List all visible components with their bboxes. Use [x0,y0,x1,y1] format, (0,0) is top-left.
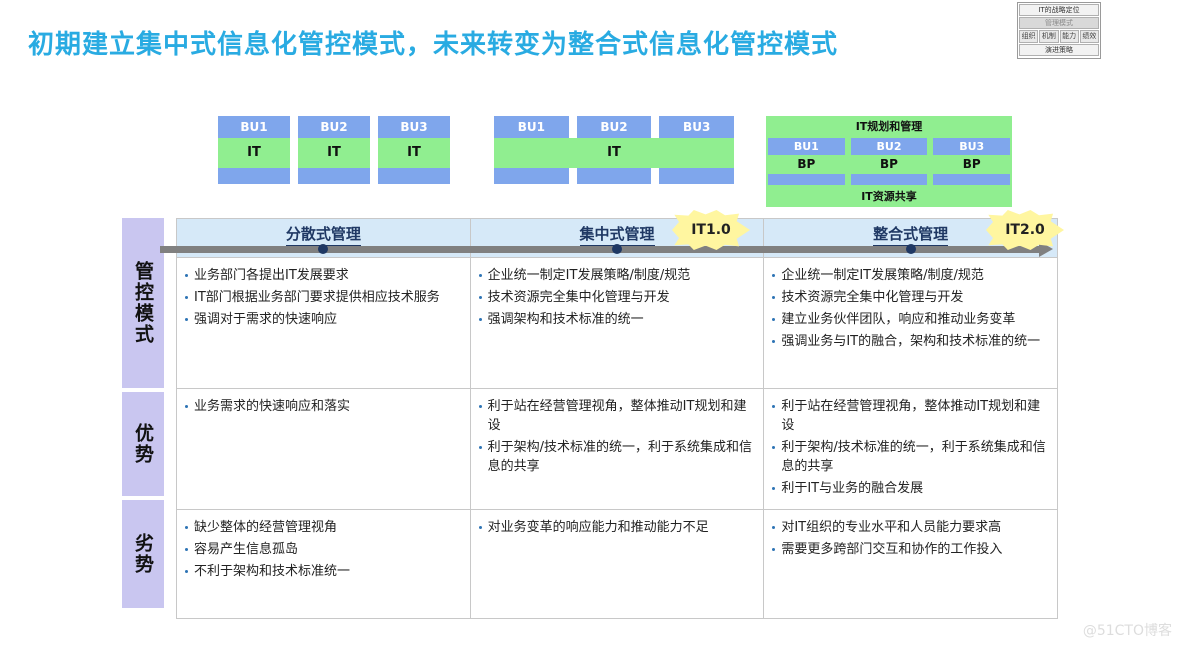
bullet-item: IT部门根据业务部门要求提供相应技术服务 [183,288,462,307]
diagram-integrated: IT规划和管理 BU1 BP BU2 BP BU3 BP IT资源共享 [766,116,1012,207]
comparison-table: 分散式管理 集中式管理 整合式管理 业务部门各提出IT发展要求IT部门根据业务部… [176,218,1058,619]
bullet-item: 利于架构/技术标准的统一，利于系统集成和信息的共享 [477,438,756,476]
bu-footer [218,168,290,184]
bullet-list: 企业统一制定IT发展策略/制度/规范技术资源完全集中化管理与开发强调架构和技术标… [477,266,756,329]
bullet-item: 利于架构/技术标准的统一，利于系统集成和信息的共享 [770,438,1049,476]
bullet-item: 需要更多跨部门交互和协作的工作投入 [770,540,1049,559]
bu-it-band: IT [298,138,370,168]
logo-cell-capability: 能力 [1060,30,1079,43]
column-header-label: 分散式管理 [286,223,361,246]
bullet-list: 业务需求的快速响应和落实 [183,397,462,416]
slide-canvas: 初期建立集中式信息化管控模式，未来转变为整合式信息化管控模式 IT的战略定位 管… [0,0,1184,656]
logo-top-row: IT的战略定位 [1019,4,1099,16]
bu-column: BU3 BP [933,138,1010,185]
it-resource-sharing-bar: IT资源共享 [768,188,1010,205]
bullet-item: 技术资源完全集中化管理与开发 [477,288,756,307]
cell-disadvantages-centralized: 对业务变革的响应能力和推动能力不足 [471,510,765,618]
table-row-advantages: 业务需求的快速响应和落实 利于站在经营管理视角，整体推动IT规划和建设利于架构/… [177,388,1057,509]
cell-disadvantages-integrated: 对IT组织的专业水平和人员能力要求高需要更多跨部门交互和协作的工作投入 [764,510,1057,618]
bullet-item: 对业务变革的响应能力和推动能力不足 [477,518,756,537]
diagram-decentralized: BU1 IT BU2 IT BU3 IT [218,116,450,184]
logo-cell-label: 绩效 [1081,32,1098,41]
logo-cell-organization: 组织 [1019,30,1038,43]
bu-header: BU3 [659,116,734,138]
column-header-label: 集中式管理 [580,223,655,246]
logo-cell-label: 机制 [1040,32,1057,41]
cell-advantages-decentralized: 业务需求的快速响应和落实 [177,389,471,509]
logo-middle-row: 管理模式 [1019,17,1099,29]
bullet-item: 对IT组织的专业水平和人员能力要求高 [770,518,1049,537]
logo-cell-label: 组织 [1020,32,1037,41]
bu-footer [933,174,1010,185]
milestone-badge-it1: IT1.0 [672,210,750,250]
row-label-disadvantages: 劣势 [122,500,164,608]
bullet-item: 建立业务伙伴团队，响应和推动业务变革 [770,310,1049,329]
bullet-list: 企业统一制定IT发展策略/制度/规范技术资源完全集中化管理与开发建立业务伙伴团队… [770,266,1049,351]
cell-disadvantages-decentralized: 缺少整体的经营管理视角容易产生信息孤岛不利于架构和技术标准统一 [177,510,471,618]
bp-column-row: BU1 BP BU2 BP BU3 BP [768,138,1010,185]
bullet-item: 业务需求的快速响应和落实 [183,397,462,416]
bu-column: BU1 IT [218,116,290,184]
timeline-dot-centralized [612,244,622,254]
bullet-item: 不利于架构和技术标准统一 [183,562,462,581]
bu-it-band: IT [378,138,450,168]
bp-band: BP [851,155,928,174]
diagram-centralized: BU1 BU2 BU3 IT [494,116,734,184]
bullet-item: 利于站在经营管理视角，整体推动IT规划和建设 [477,397,756,435]
logo-cell-label: 能力 [1061,32,1078,41]
bu-header: BU2 [577,116,652,138]
bullet-item: 利于站在经营管理视角，整体推动IT规划和建设 [770,397,1049,435]
bu-footer [298,168,370,184]
bu-header: BU2 [851,138,928,155]
bullet-list: 缺少整体的经营管理视角容易产生信息孤岛不利于架构和技术标准统一 [183,518,462,581]
row-label-advantages: 优势 [122,392,164,496]
timeline-dot-decentralized [318,244,328,254]
bu-header: BU1 [218,116,290,138]
bp-band: BP [933,155,1010,174]
bu-footer [768,174,845,185]
cell-mode-centralized: 企业统一制定IT发展策略/制度/规范技术资源完全集中化管理与开发强调架构和技术标… [471,258,765,388]
bullet-item: 企业统一制定IT发展策略/制度/规范 [477,266,756,285]
bullet-item: 强调对于需求的快速响应 [183,310,462,329]
milestone-label: IT1.0 [691,222,731,238]
it-planning-bar: IT规划和管理 [768,118,1010,135]
bu-footer [851,174,928,185]
bu-column: BU2 BP [851,138,928,185]
logo-cell-group: 组织 机制 能力 绩效 [1019,30,1099,43]
bu-column: BU1 BP [768,138,845,185]
bullet-item: 利于IT与业务的融合发展 [770,479,1049,498]
bullet-item: 强调业务与IT的融合，架构和技术标准的统一 [770,332,1049,351]
bu-column: BU3 IT [378,116,450,184]
bullet-item: 缺少整体的经营管理视角 [183,518,462,537]
bu-footer [659,168,734,184]
corner-logo: IT的战略定位 管理模式 组织 机制 能力 绩效 演进策略 [1017,2,1101,59]
milestone-badge-it2: IT2.0 [986,210,1064,250]
logo-cell-mechanism: 机制 [1039,30,1058,43]
bullet-list: 业务部门各提出IT发展要求IT部门根据业务部门要求提供相应技术服务强调对于需求的… [183,266,462,329]
shared-it-band: IT [494,138,734,168]
bu-header-row: BU1 BU2 BU3 [494,116,734,138]
milestone-label: IT2.0 [1005,222,1045,238]
column-header-label: 整合式管理 [873,223,948,246]
bullet-item: 强调架构和技术标准的统一 [477,310,756,329]
bu-header: BU3 [378,116,450,138]
bullet-list: 对业务变革的响应能力和推动能力不足 [477,518,756,537]
bu-header: BU3 [933,138,1010,155]
table-row-disadvantages: 缺少整体的经营管理视角容易产生信息孤岛不利于架构和技术标准统一 对业务变革的响应… [177,509,1057,618]
watermark: @51CTO博客 [1083,620,1172,640]
bu-footer [577,168,652,184]
bp-band: BP [768,155,845,174]
bullet-item: 企业统一制定IT发展策略/制度/规范 [770,266,1049,285]
cell-advantages-centralized: 利于站在经营管理视角，整体推动IT规划和建设利于架构/技术标准的统一，利于系统集… [471,389,765,509]
bullet-item: 业务部门各提出IT发展要求 [183,266,462,285]
bu-footer [378,168,450,184]
timeline-dot-integrated [906,244,916,254]
logo-bottom-row: 演进策略 [1019,44,1099,56]
bu-footer-row [494,168,734,184]
bu-column: BU2 IT [298,116,370,184]
bu-footer [494,168,569,184]
bullet-item: 容易产生信息孤岛 [183,540,462,559]
row-label-management-mode: 管控模式 [122,218,164,388]
table-row-management-mode: 业务部门各提出IT发展要求IT部门根据业务部门要求提供相应技术服务强调对于需求的… [177,257,1057,388]
logo-cell-performance: 绩效 [1080,30,1099,43]
bullet-item: 技术资源完全集中化管理与开发 [770,288,1049,307]
bu-it-band: IT [218,138,290,168]
bullet-list: 对IT组织的专业水平和人员能力要求高需要更多跨部门交互和协作的工作投入 [770,518,1049,559]
bullet-list: 利于站在经营管理视角，整体推动IT规划和建设利于架构/技术标准的统一，利于系统集… [770,397,1049,498]
bullet-list: 利于站在经营管理视角，整体推动IT规划和建设利于架构/技术标准的统一，利于系统集… [477,397,756,476]
cell-mode-integrated: 企业统一制定IT发展策略/制度/规范技术资源完全集中化管理与开发建立业务伙伴团队… [764,258,1057,388]
bu-header: BU1 [494,116,569,138]
bu-header: BU2 [298,116,370,138]
bu-header: BU1 [768,138,845,155]
cell-advantages-integrated: 利于站在经营管理视角，整体推动IT规划和建设利于架构/技术标准的统一，利于系统集… [764,389,1057,509]
page-title: 初期建立集中式信息化管控模式，未来转变为整合式信息化管控模式 [28,24,838,61]
cell-mode-decentralized: 业务部门各提出IT发展要求IT部门根据业务部门要求提供相应技术服务强调对于需求的… [177,258,471,388]
